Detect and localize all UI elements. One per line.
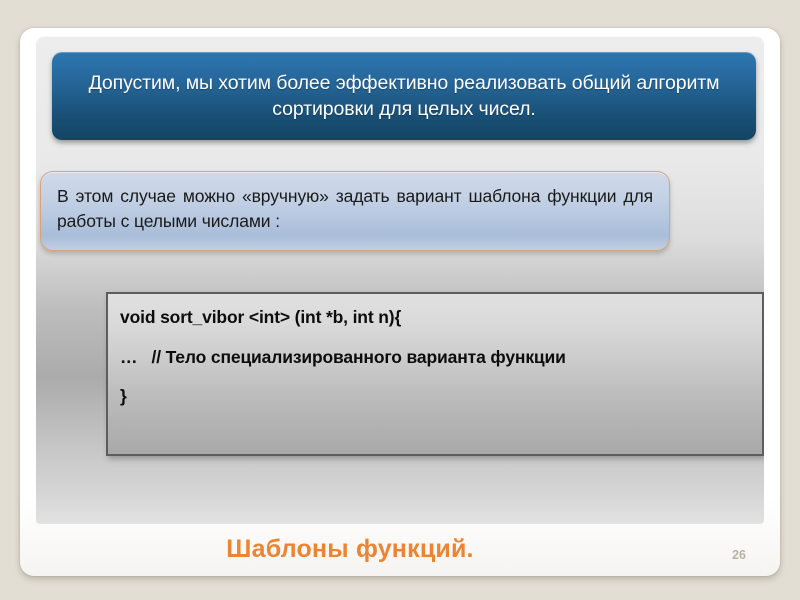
slide-frame: Допустим, мы хотим более эффективно реал…: [20, 28, 780, 576]
page-title: Шаблоны функций.: [20, 535, 680, 564]
secondary-callout-text: В этом случае можно «вручную» задать вар…: [57, 184, 653, 234]
code-line-body-comment: … // Тело специализированного варианта ф…: [120, 348, 748, 368]
slide-content-panel: Допустим, мы хотим более эффективно реал…: [36, 36, 764, 524]
page-number: 26: [732, 548, 746, 562]
code-snippet-box: void sort_vibor <int> (int *b, int n){ ……: [106, 292, 764, 456]
code-line-signature: void sort_vibor <int> (int *b, int n){: [120, 308, 748, 328]
secondary-callout-box: В этом случае можно «вручную» задать вар…: [40, 171, 670, 251]
headline-callout-box: Допустим, мы хотим более эффективно реал…: [52, 52, 756, 140]
slide-footer: Шаблоны функций. 26: [20, 526, 780, 576]
headline-text: Допустим, мы хотим более эффективно реал…: [74, 70, 734, 123]
code-line-closing-brace: }: [120, 387, 748, 407]
